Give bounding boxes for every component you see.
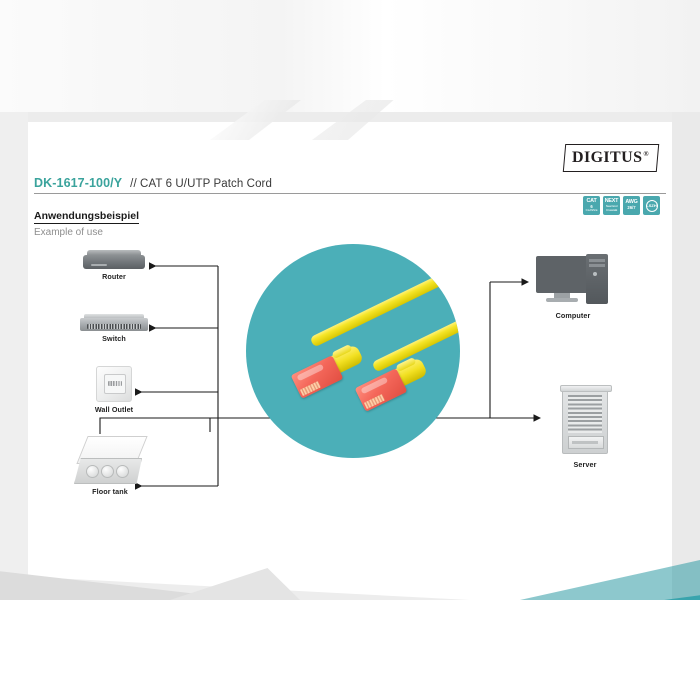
certification-badges: CAT 6 CLASS E NEXT Near End Crosstalk AW… [583, 196, 660, 215]
node-label-floor-tank: Floor tank [60, 487, 160, 496]
diagram-node-server: Server [540, 388, 630, 469]
left-gray-edge [0, 112, 28, 600]
bottom-white-band [0, 600, 700, 700]
server-drive-bays [568, 395, 602, 433]
right-gray-edge [672, 112, 700, 600]
computer-drive-bay-1 [589, 259, 605, 262]
diagram-node-floor-tank: Floor tank [60, 436, 160, 496]
diagram-node-wall-outlet: Wall Outlet [72, 366, 156, 414]
product-title-row: DK-1617-100/Y // CAT 6 U/UTP Patch Cord [34, 176, 666, 194]
connector-pins-left [300, 381, 321, 396]
computer-power-button [593, 272, 597, 276]
server-icon [562, 388, 608, 454]
top-gradient-band [0, 0, 700, 112]
product-sku: DK-1617-100/Y [34, 176, 122, 190]
badge-next-line3: Crosstalk [606, 209, 617, 212]
computer-icon [536, 254, 610, 308]
wall-outlet-icon [96, 366, 132, 402]
computer-monitor [536, 256, 588, 293]
connector-gloss-right [360, 377, 388, 395]
computer-base [546, 298, 578, 302]
router-led [91, 264, 107, 266]
brand-logo: DIGITUS® [564, 144, 658, 172]
diagram-node-switch: Switch [72, 314, 156, 343]
switch-body [80, 318, 148, 331]
connector-pins-right [364, 394, 385, 409]
switch-ports [87, 324, 141, 329]
badge-lszh-symbol: LSZH [646, 200, 658, 212]
node-label-server: Server [540, 460, 630, 469]
server-top-panel [560, 385, 612, 392]
floor-tank-port-3 [116, 465, 129, 478]
section-heading: Anwendungsbeispiel Example of use [34, 206, 139, 238]
logo-text: DIGITUS® [572, 149, 649, 167]
router-body [83, 255, 145, 269]
wall-outlet-port [108, 381, 122, 386]
badge-lszh-icon: LSZH [643, 196, 660, 215]
node-label-computer: Computer [528, 311, 618, 320]
connector-gloss-left [296, 364, 324, 382]
diagram-node-computer: Computer [528, 254, 618, 320]
decorative-teal-triangle-back [520, 560, 700, 600]
computer-drive-bay-2 [589, 264, 605, 267]
product-name-text: CAT 6 U/UTP Patch Cord [140, 178, 272, 190]
node-label-router: Router [74, 272, 154, 281]
badge-lszh-text: LSZH [646, 204, 656, 208]
rj45-connector-left [291, 355, 344, 399]
badge-cat6-icon: CAT 6 CLASS E [583, 196, 600, 215]
decorative-gray-peak [170, 568, 300, 600]
title-separator: // [130, 178, 137, 190]
product-name: // CAT 6 U/UTP Patch Cord [130, 178, 272, 190]
floor-tank-port-1 [86, 465, 99, 478]
server-optical-drive [568, 436, 604, 449]
badge-awg-icon: AWG 26/7 [623, 196, 640, 215]
logo-registered-mark: ® [644, 150, 650, 158]
section-title-de: Anwendungsbeispiel [34, 210, 139, 224]
badge-next-icon: NEXT Near End Crosstalk [603, 196, 620, 215]
node-label-switch: Switch [72, 334, 156, 343]
logo-frame: DIGITUS® [563, 144, 659, 172]
router-icon [83, 250, 145, 269]
switch-icon [80, 314, 148, 331]
datasheet-card: DIGITUS® DK-1617-100/Y // CAT 6 U/UTP Pa… [28, 140, 672, 552]
rj45-connector-right [355, 368, 408, 412]
wall-outlet-inner [104, 374, 126, 394]
badge-cat6-line3: CLASS E [586, 209, 598, 212]
floor-tank-icon [74, 436, 146, 486]
product-hero-circle [246, 244, 460, 458]
badge-awg-line2: 26/7 [627, 206, 635, 210]
floor-tank-port-2 [101, 465, 114, 478]
diagram-node-router: Router [74, 250, 154, 281]
application-diagram: Router Switch Wall Outlet [28, 236, 672, 536]
node-label-wall-outlet: Wall Outlet [72, 405, 156, 414]
